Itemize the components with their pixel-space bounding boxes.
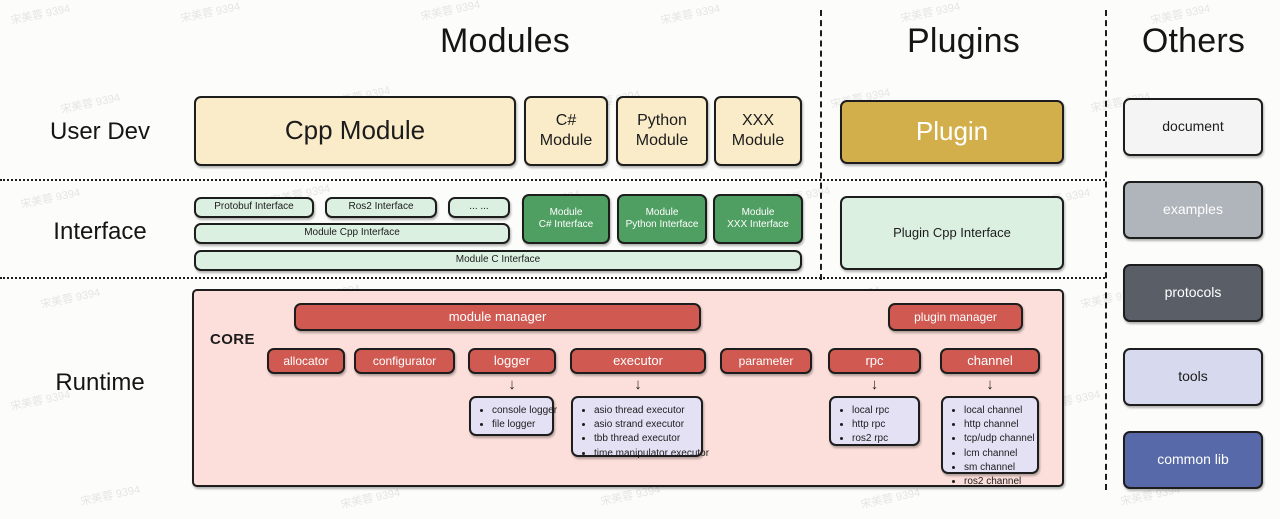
detail-list-rpc: local rpc http rpc ros2 rpc <box>839 404 912 447</box>
core-label: CORE <box>210 331 255 348</box>
core-box-allocator[interactable]: allocator <box>267 348 345 374</box>
divider-plugins-others <box>1105 10 1107 490</box>
core-box-allocator-label: allocator <box>283 354 328 369</box>
watermark: 宋美蓉 9394 <box>339 484 402 512</box>
detail-box-channel: local channel http channel tcp/udp chann… <box>941 396 1039 474</box>
interface-box-ros2-label: Ros2 Interface <box>348 201 413 213</box>
interface-box-protobuf[interactable]: Protobuf Interface <box>194 197 314 218</box>
divider-userdev-interface <box>0 179 1105 181</box>
plugin-box-label: Plugin <box>916 116 988 148</box>
module-box-csharp[interactable]: C# Module <box>524 96 608 166</box>
core-box-parameter-label: parameter <box>739 354 794 369</box>
core-box-logger[interactable]: logger <box>468 348 556 374</box>
detail-list-channel: local channel http channel tcp/udp chann… <box>951 404 1031 489</box>
watermark: 宋美蓉 9394 <box>419 0 482 24</box>
list-item: local rpc <box>852 404 912 418</box>
column-title-others: Others <box>1107 22 1280 61</box>
interface-box-python-line2: Python Interface <box>626 219 699 231</box>
module-box-xxx[interactable]: XXX Module <box>714 96 802 166</box>
arrow-executor-to-details: ↓ <box>570 377 706 392</box>
module-box-python-line2: Module <box>636 131 688 151</box>
core-box-module-manager-label: module manager <box>449 309 547 325</box>
core-box-executor-label: executor <box>613 353 663 369</box>
module-box-cpp-label: Cpp Module <box>285 115 425 147</box>
others-box-protocols-label: protocols <box>1165 284 1222 301</box>
interface-box-plugin-cpp-label: Plugin Cpp Interface <box>893 225 1011 241</box>
core-box-rpc[interactable]: rpc <box>828 348 921 374</box>
core-box-logger-label: logger <box>494 353 530 369</box>
interface-box-plugin-cpp[interactable]: Plugin Cpp Interface <box>840 196 1064 270</box>
detail-box-executor: asio thread executor asio strand executo… <box>571 396 703 457</box>
list-item: local channel <box>964 404 1031 418</box>
list-item: ros2 rpc <box>852 432 912 446</box>
core-box-channel[interactable]: channel <box>940 348 1040 374</box>
others-box-common-lib-label: common lib <box>1157 451 1229 468</box>
core-box-executor[interactable]: executor <box>570 348 706 374</box>
core-box-plugin-manager[interactable]: plugin manager <box>888 303 1023 331</box>
detail-list-executor: asio thread executor asio strand executo… <box>581 404 695 461</box>
module-box-xxx-line1: XXX <box>742 111 774 131</box>
detail-list-logger: console logger file logger <box>479 404 546 432</box>
detail-box-rpc: local rpc http rpc ros2 rpc <box>829 396 920 446</box>
column-title-modules: Modules <box>190 22 820 61</box>
interface-box-module-cpp[interactable]: Module Cpp Interface <box>194 223 510 244</box>
module-box-csharp-line2: Module <box>540 131 592 151</box>
list-item: lcm channel <box>964 447 1031 461</box>
watermark: 宋美蓉 9394 <box>59 89 122 117</box>
core-box-module-manager[interactable]: module manager <box>294 303 701 331</box>
list-item: time manipulator executor <box>594 447 695 461</box>
interface-box-module-c[interactable]: Module C Interface <box>194 250 802 271</box>
column-title-plugins: Plugins <box>822 22 1105 61</box>
core-box-parameter[interactable]: parameter <box>720 348 812 374</box>
list-item: asio thread executor <box>594 404 695 418</box>
interface-box-csharp-line1: Module <box>550 207 583 219</box>
others-box-protocols[interactable]: protocols <box>1123 264 1263 322</box>
interface-box-module-cpp-label: Module Cpp Interface <box>304 227 400 239</box>
watermark: 宋美蓉 9394 <box>9 0 72 28</box>
interface-box-xxx-line1: Module <box>742 207 775 219</box>
arrow-rpc-to-details: ↓ <box>828 377 921 392</box>
list-item: sm channel <box>964 461 1031 475</box>
arrow-channel-to-details: ↓ <box>940 377 1040 392</box>
others-box-tools[interactable]: tools <box>1123 348 1263 406</box>
module-box-python[interactable]: Python Module <box>616 96 708 166</box>
interface-box-xxx[interactable]: Module XXX Interface <box>713 194 803 244</box>
interface-box-csharp[interactable]: Module C# Interface <box>522 194 610 244</box>
divider-modules-plugins <box>820 10 822 280</box>
interface-box-more[interactable]: ... ... <box>448 197 510 218</box>
others-box-document[interactable]: document <box>1123 98 1263 156</box>
detail-box-logger: console logger file logger <box>469 396 554 436</box>
others-box-examples-label: examples <box>1163 201 1223 218</box>
core-box-rpc-label: rpc <box>865 353 883 369</box>
module-box-csharp-line1: C# <box>556 111 576 131</box>
others-box-examples[interactable]: examples <box>1123 181 1263 239</box>
row-label-user-dev: User Dev <box>16 118 184 146</box>
interface-box-python[interactable]: Module Python Interface <box>617 194 707 244</box>
list-item: console logger <box>492 404 546 418</box>
list-item: http channel <box>964 418 1031 432</box>
list-item: http rpc <box>852 418 912 432</box>
core-box-configurator[interactable]: configurator <box>354 348 455 374</box>
list-item: ros2 channel <box>964 475 1031 489</box>
row-label-runtime: Runtime <box>16 369 184 397</box>
row-label-interface: Interface <box>16 218 184 246</box>
module-box-xxx-line2: Module <box>732 131 784 151</box>
interface-box-ros2[interactable]: Ros2 Interface <box>325 197 437 218</box>
watermark: 宋美蓉 9394 <box>19 184 82 212</box>
interface-box-xxx-line2: XXX Interface <box>727 219 789 231</box>
interface-box-python-line1: Module <box>646 207 679 219</box>
interface-box-protobuf-label: Protobuf Interface <box>214 201 294 213</box>
list-item: tbb thread executor <box>594 432 695 446</box>
list-item: tcp/udp channel <box>964 432 1031 446</box>
list-item: file logger <box>492 418 546 432</box>
arrow-logger-to-details: ↓ <box>468 377 556 392</box>
others-box-tools-label: tools <box>1178 368 1208 385</box>
interface-box-csharp-line2: C# Interface <box>539 219 593 231</box>
watermark: 宋美蓉 9394 <box>79 481 142 509</box>
watermark: 宋美蓉 9394 <box>859 484 922 512</box>
others-box-document-label: document <box>1162 118 1223 135</box>
list-item: asio strand executor <box>594 418 695 432</box>
core-box-channel-label: channel <box>967 353 1013 369</box>
interface-box-more-label: ... ... <box>469 201 488 213</box>
module-box-python-line1: Python <box>637 111 687 131</box>
module-box-cpp[interactable]: Cpp Module <box>194 96 516 166</box>
core-box-plugin-manager-label: plugin manager <box>914 310 997 325</box>
watermark: 宋美蓉 9394 <box>39 284 102 312</box>
plugin-box[interactable]: Plugin <box>840 100 1064 164</box>
diagram-canvas: 宋美蓉 9394 宋美蓉 9394 宋美蓉 9394 宋美蓉 9394 宋美蓉 … <box>0 0 1280 519</box>
core-box-configurator-label: configurator <box>373 354 436 369</box>
interface-box-module-c-label: Module C Interface <box>456 254 541 266</box>
others-box-common-lib[interactable]: common lib <box>1123 431 1263 489</box>
divider-interface-runtime <box>0 277 1105 279</box>
